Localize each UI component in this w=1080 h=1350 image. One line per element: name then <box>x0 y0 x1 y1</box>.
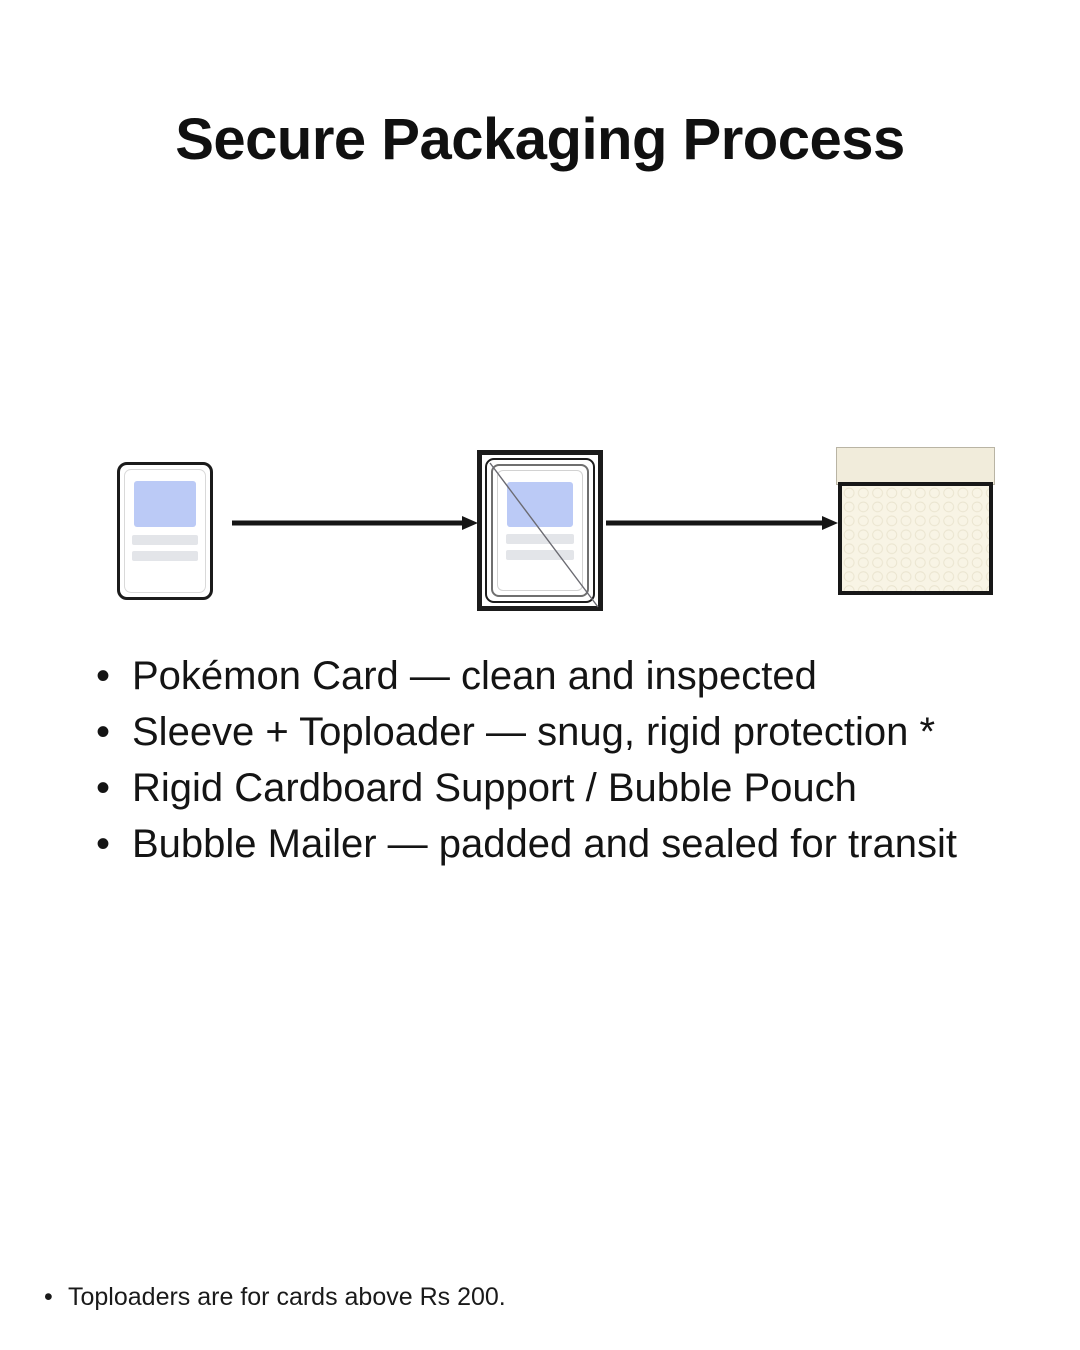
card-artwork-panel <box>507 482 573 527</box>
diagram-stage-card <box>117 462 213 600</box>
footnote-item: Toploaders are for cards above Rs 200. <box>38 1280 938 1314</box>
slide-canvas: { "slide": { "title": "Secure Packaging … <box>0 0 1080 1350</box>
list-item: Sleeve + Toploader — snug, rigid protect… <box>88 704 1048 760</box>
list-item: Pokémon Card — clean and inspected <box>88 648 1048 704</box>
diagram-stage-toploader <box>477 450 603 611</box>
toploader-shell <box>485 458 595 603</box>
packaging-steps-list: Pokémon Card — clean and inspected Sleev… <box>88 648 1048 872</box>
list-item: Bubble Mailer — padded and sealed for tr… <box>88 816 1048 872</box>
card-text-line-1 <box>506 534 575 544</box>
sleeved-card-face <box>497 470 583 591</box>
list-item: Rigid Cardboard Support / Bubble Pouch <box>88 760 1048 816</box>
arrow-toploader-to-mailer-icon <box>606 515 838 531</box>
card-text-line-2 <box>132 551 198 561</box>
mailer-flap <box>836 447 995 485</box>
diagram-stage-bubble-mailer <box>836 447 995 597</box>
mailer-body <box>838 482 993 595</box>
card-text-line-1 <box>132 535 198 545</box>
bubble-texture-icon <box>842 486 989 591</box>
card-sleeve <box>491 464 589 597</box>
arrow-card-to-toploader-icon <box>232 515 478 531</box>
footnote-list: Toploaders are for cards above Rs 200. <box>38 1280 938 1314</box>
card-text-line-2 <box>506 550 575 560</box>
page-title: Secure Packaging Process <box>0 108 1080 172</box>
card-artwork-panel <box>134 481 196 527</box>
card-face <box>124 469 206 593</box>
